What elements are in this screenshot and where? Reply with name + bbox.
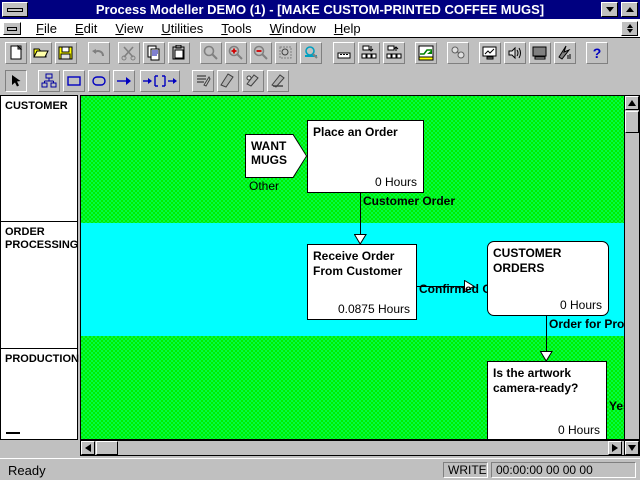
report-button[interactable] (554, 42, 576, 64)
status-mode: WRITE (443, 462, 488, 478)
node-is-artwork-camera-ready-title: Is the artworkcamera-ready? (493, 366, 602, 396)
help-question-icon: ? (589, 45, 605, 61)
drawing-toolbar (0, 67, 640, 96)
zoom-selection-icon (278, 45, 294, 61)
flow-yes-label: Yes (609, 400, 625, 413)
scroll-up-icon (628, 100, 636, 106)
paste-button[interactable] (168, 42, 190, 64)
rectangle-icon (66, 73, 82, 89)
lane-label-production-text: PRODUCTION (5, 353, 79, 365)
save-button[interactable] (55, 42, 77, 64)
want-mugs-event-title: WANTMUGS (251, 139, 287, 167)
undo-button[interactable] (88, 42, 110, 64)
lane-resize-handle[interactable] (6, 432, 20, 434)
collapse-up-button[interactable] (383, 42, 405, 64)
rectangle-tool-button[interactable] (63, 70, 85, 92)
lane-label-production[interactable]: PRODUCTION (1, 349, 77, 439)
scroll-down-icon (628, 445, 636, 451)
lane-label-customer-text: CUSTOMER (5, 100, 68, 112)
menu-item-tools[interactable]: Tools (212, 19, 260, 38)
vertical-scroll-thumb[interactable] (625, 111, 639, 133)
status-timer: 00:00:00 00 00 00 (491, 462, 636, 478)
menu-item-window[interactable]: Window (261, 19, 325, 38)
speaker-icon (507, 45, 523, 61)
display-icon (532, 45, 548, 61)
scroll-right-icon (612, 444, 618, 452)
rounded-rect-icon (91, 73, 107, 89)
cut-button[interactable] (118, 42, 140, 64)
new-button[interactable] (5, 42, 27, 64)
new-icon (8, 45, 24, 61)
horizontal-scrollbar[interactable] (80, 440, 625, 456)
simulate-button[interactable] (447, 42, 469, 64)
arrow-right-icon (116, 73, 132, 89)
window-title: Process Modeller DEMO (1) - [MAKE CUSTOM… (0, 0, 640, 19)
layer-a-icon (195, 73, 211, 89)
layer-d-tool-button[interactable] (267, 70, 289, 92)
menu-item-view[interactable]: View (106, 19, 152, 38)
save-disk-icon (58, 45, 74, 61)
menu-item-file[interactable]: File (27, 19, 66, 38)
flow-confirmed-order-label: Confirmed O (419, 283, 492, 296)
open-button[interactable] (30, 42, 52, 64)
node-place-an-order-duration: 0 Hours (375, 175, 417, 189)
want-mugs-sublabel: Other (249, 180, 279, 193)
scroll-left-button[interactable] (81, 441, 95, 455)
node-customer-orders[interactable]: CUSTOMERORDERS 0 Hours (487, 241, 609, 316)
layer-d-icon (270, 73, 286, 89)
scroll-up-button[interactable] (625, 96, 639, 110)
restore-down-icon (627, 29, 633, 33)
align-icon (336, 45, 352, 61)
expand-down-button[interactable] (358, 42, 380, 64)
menu-bar: File Edit View Utilities Tools Window He… (0, 19, 640, 38)
node-place-an-order[interactable]: Place an Order 0 Hours (307, 120, 424, 193)
svg-text:?: ? (593, 45, 602, 61)
zoom-selection-button[interactable] (275, 42, 297, 64)
node-place-an-order-title: Place an Order (313, 125, 419, 140)
status-bar: Ready WRITE 00:00:00 00 00 00 (0, 458, 640, 480)
node-customer-orders-title: CUSTOMERORDERS (493, 246, 604, 276)
zoom-out-icon (253, 45, 269, 61)
report-icon (557, 45, 573, 61)
maximize-icon (626, 7, 634, 12)
chart-icon (418, 45, 434, 61)
child-restore-button[interactable] (621, 21, 638, 36)
org-tree-tool-button[interactable] (38, 70, 60, 92)
help-button[interactable]: ? (586, 42, 608, 64)
zoom-icon (203, 45, 219, 61)
scroll-right-button[interactable] (608, 441, 622, 455)
node-receive-order-title: Receive OrderFrom Customer (313, 249, 412, 279)
lane-label-panel: CUSTOMER ORDER PROCESSING PRODUCTION (0, 95, 78, 440)
connector-tool-button[interactable] (113, 70, 135, 92)
node-customer-orders-duration: 0 Hours (560, 298, 602, 312)
copy-button[interactable] (143, 42, 165, 64)
undo-icon (91, 45, 107, 61)
display-button[interactable] (529, 42, 551, 64)
node-receive-order-duration: 0.0875 Hours (338, 302, 410, 316)
process-diagram-canvas[interactable]: WANTMUGS Other Place an Order 0 Hours Cu… (80, 95, 625, 440)
child-system-menu-icon[interactable] (3, 22, 21, 35)
simulate-icon (450, 45, 466, 61)
monitor-icon (482, 45, 498, 61)
minimize-button[interactable] (601, 2, 618, 17)
copy-icon (146, 45, 162, 61)
zoom-fit-icon (303, 45, 319, 61)
monitor-button[interactable] (479, 42, 501, 64)
zoom-in-icon (228, 45, 244, 61)
flow-order-for-prod-label: Order for Prod (549, 318, 625, 331)
collapse-up-icon (386, 45, 402, 61)
minimize-icon (606, 7, 614, 12)
title-bar: Process Modeller DEMO (1) - [MAKE CUSTOM… (0, 0, 640, 19)
zoom-out-button[interactable] (250, 42, 272, 64)
maximize-button[interactable] (621, 2, 638, 17)
node-receive-order-from-customer[interactable]: Receive OrderFrom Customer 0.0875 Hours (307, 244, 417, 320)
horizontal-scroll-thumb[interactable] (96, 441, 118, 455)
flow-customer-order-label: Customer Order (363, 195, 455, 208)
chart-button[interactable] (415, 42, 437, 64)
align-button[interactable] (333, 42, 355, 64)
layer-b-tool-button[interactable] (217, 70, 239, 92)
restore-up-icon (627, 24, 633, 28)
flow-order-for-prod-line (546, 316, 547, 356)
menu-item-edit[interactable]: Edit (66, 19, 106, 38)
diagram-client-area: CUSTOMER ORDER PROCESSING PRODUCTION WAN… (0, 95, 640, 455)
menu-items: File Edit View Utilities Tools Window He… (27, 19, 370, 38)
menu-item-help[interactable]: Help (325, 19, 370, 38)
zoom-in-button[interactable] (225, 42, 247, 64)
lane-label-order-processing-text: ORDER PROCESSING (5, 226, 78, 251)
rounded-rect-tool-button[interactable] (88, 70, 110, 92)
application-window: Process Modeller DEMO (1) - [MAKE CUSTOM… (0, 0, 640, 480)
org-tree-icon (41, 73, 57, 89)
paste-clipboard-icon (171, 45, 187, 61)
child-system-menu-glyph (7, 27, 17, 31)
pointer-tool-button[interactable] (5, 70, 27, 92)
main-toolbar: ? (0, 39, 640, 67)
expand-down-icon (361, 45, 377, 61)
lane-label-customer[interactable]: CUSTOMER (1, 96, 77, 222)
lane-label-order-processing[interactable]: ORDER PROCESSING (1, 222, 77, 349)
layer-b-icon (220, 73, 236, 89)
scroll-down-button[interactable] (625, 441, 639, 455)
cut-scissors-icon (121, 45, 137, 61)
node-is-artwork-camera-ready-duration: 0 Hours (558, 423, 600, 437)
pointer-arrow-icon (8, 73, 24, 89)
layer-a-tool-button[interactable] (192, 70, 214, 92)
zoom-fit-button[interactable] (300, 42, 322, 64)
open-folder-icon (33, 45, 49, 61)
boundary-icon (142, 73, 178, 89)
menu-item-utilities[interactable]: Utilities (152, 19, 212, 38)
scroll-left-icon (85, 444, 91, 452)
vertical-scrollbar[interactable] (624, 95, 640, 440)
flow-customer-order-line (360, 193, 361, 239)
zoom-button[interactable] (200, 42, 222, 64)
status-message: Ready (8, 463, 46, 478)
boundary-tool-button[interactable] (140, 70, 180, 92)
layer-c-tool-button[interactable] (242, 70, 264, 92)
layer-c-icon (245, 73, 261, 89)
speaker-button[interactable] (504, 42, 526, 64)
node-is-artwork-camera-ready[interactable]: Is the artworkcamera-ready? 0 Hours (487, 361, 607, 440)
